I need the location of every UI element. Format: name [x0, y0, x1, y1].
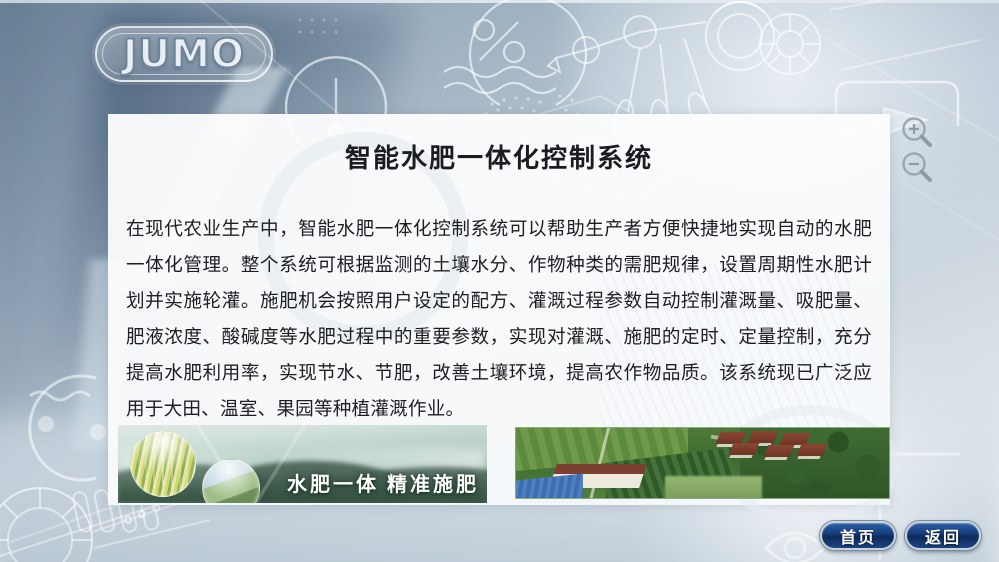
sprinkler-spray-icon — [163, 438, 164, 485]
village-houses — [710, 431, 844, 467]
photo-caption: 水肥一体 精准施肥 — [287, 468, 479, 497]
jumo-logo[interactable]: JUMO — [95, 26, 273, 82]
sprinkler-bubble — [130, 431, 196, 497]
thermometer-icon — [30, 376, 106, 480]
blue-roof-barn — [516, 473, 583, 499]
back-button[interactable]: 返回 — [905, 521, 981, 550]
meadow — [665, 476, 762, 499]
image-strip: 水肥一体 精准施肥 — [108, 421, 890, 503]
content-panel: 智能水肥一体化控制系统 在现代农业生产中，智能水肥一体化控制系统可以帮助生产者方… — [108, 114, 890, 505]
back-button-label: 返回 — [925, 524, 961, 548]
zoom-in-icon[interactable] — [900, 115, 934, 154]
dot-grid — [299, 19, 338, 34]
zoom-out-icon[interactable] — [900, 150, 934, 189]
aerial-farm-village-photo — [515, 427, 890, 499]
home-button-label: 首页 — [840, 524, 876, 548]
fan-circle-icon — [760, 0, 980, 74]
article-body: 在现代农业生产中，智能水肥一体化控制系统可以帮助生产者方便快捷地实现自动的水肥一… — [126, 212, 872, 428]
page-title: 智能水肥一体化控制系统 — [108, 114, 890, 175]
logo-text: JUMO — [123, 32, 245, 77]
home-button[interactable]: 首页 — [820, 521, 896, 550]
humidity-percent-icon — [444, 0, 586, 105]
irrigation-hills-photo: 水肥一体 精准施肥 — [118, 425, 487, 503]
